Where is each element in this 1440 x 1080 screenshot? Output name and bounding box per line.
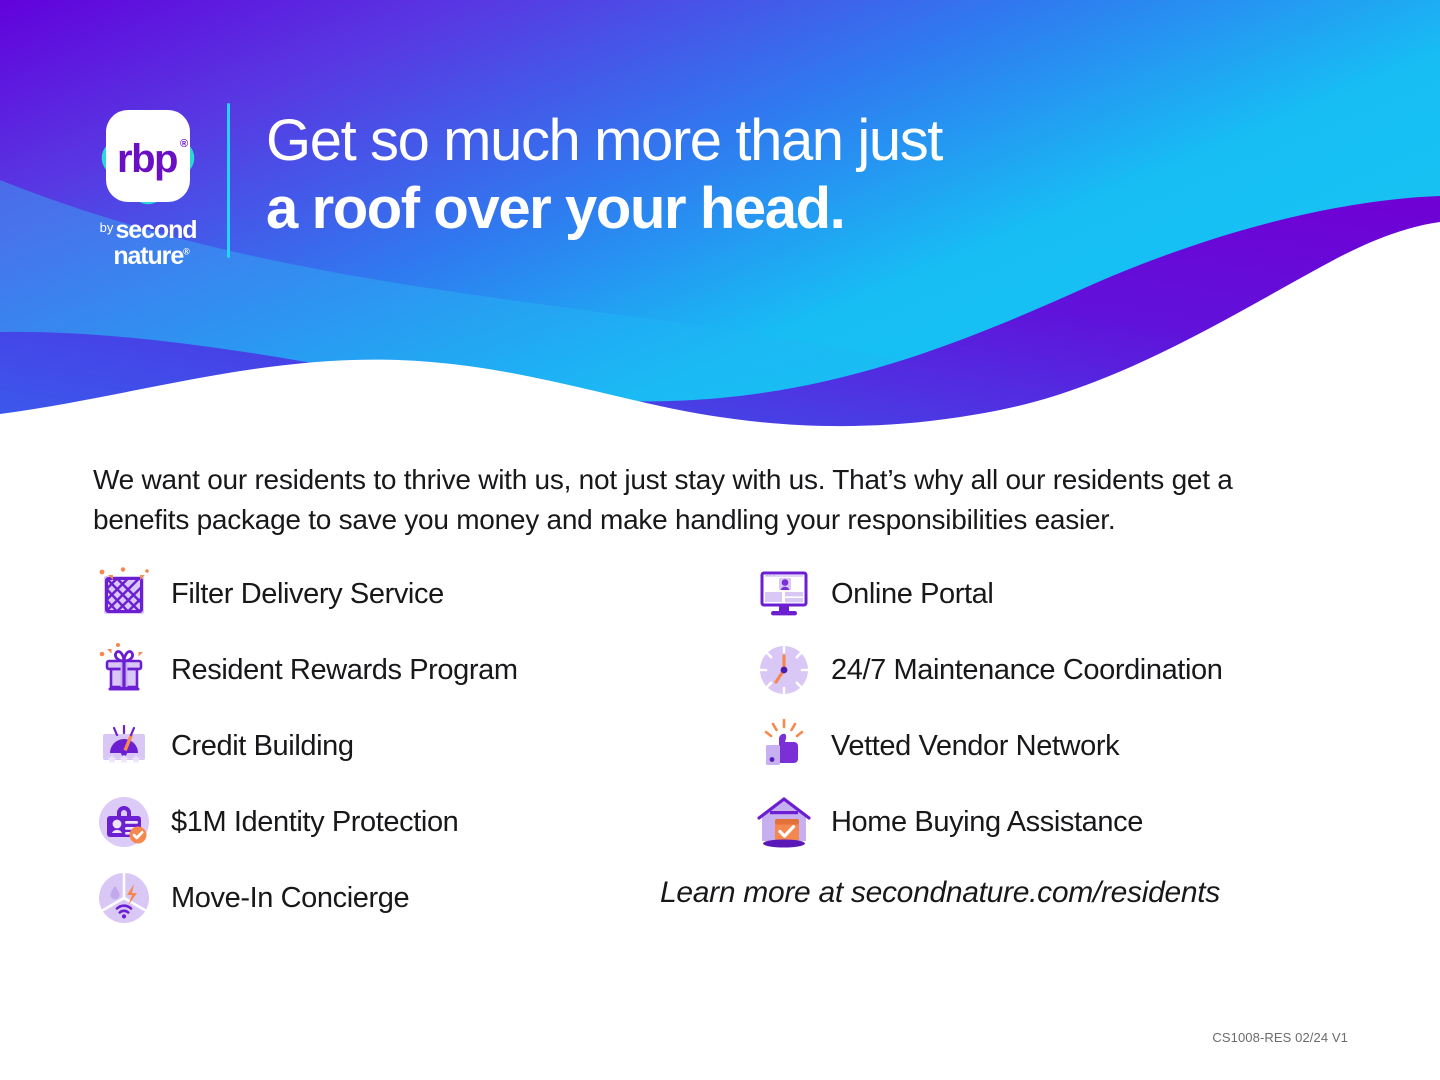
headline-line-2: a roof over your head. <box>266 176 942 242</box>
gift-box-icon <box>93 639 155 701</box>
benefit-item-maintenance-coordination: 24/7 Maintenance Coordination <box>753 632 1373 708</box>
logo-byline-trademark: ® <box>183 247 189 257</box>
credit-gauge-icon <box>93 715 155 777</box>
id-badge-shield-icon <box>93 791 155 853</box>
benefit-label: Online Portal <box>831 578 993 611</box>
clock-icon <box>753 639 815 701</box>
house-checklist-icon <box>753 791 815 853</box>
logo-byline-nature: nature® <box>88 244 208 269</box>
learn-more-link[interactable]: Learn more at secondnature.com/residents <box>660 876 1220 910</box>
document-code: CS1008-RES 02/24 V1 <box>1212 1030 1348 1045</box>
thumbs-up-icon <box>753 715 815 777</box>
benefit-item-home-buying-assistance: Home Buying Assistance <box>753 784 1373 860</box>
rbp-rosette-icon: rbp ® <box>90 100 206 216</box>
desktop-monitor-icon <box>753 563 815 625</box>
benefit-label: $1M Identity Protection <box>171 806 458 839</box>
benefit-label: Move-In Concierge <box>171 882 409 915</box>
logo-byline-second: second <box>116 218 197 243</box>
rbp-logo-mark: rbp ® <box>90 100 206 216</box>
benefit-item-resident-rewards-program: Resident Rewards Program <box>93 632 733 708</box>
header-banner: rbp ® bysecond nature® Get so much more … <box>0 0 1440 440</box>
benefit-item-move-in-concierge: Move-In Concierge <box>93 860 733 936</box>
benefit-item-identity-protection: $1M Identity Protection <box>93 784 733 860</box>
benefit-label: 24/7 Maintenance Coordination <box>831 654 1222 687</box>
logo-byline-by: by <box>100 221 114 234</box>
benefit-label: Filter Delivery Service <box>171 578 444 611</box>
benefit-label: Credit Building <box>171 730 354 763</box>
header-divider <box>227 103 230 258</box>
rbp-logo: rbp ® bysecond nature® <box>88 100 208 260</box>
page-title: Get so much more than just a roof over y… <box>266 108 942 242</box>
air-filter-icon <box>93 563 155 625</box>
benefit-label: Home Buying Assistance <box>831 806 1143 839</box>
benefit-item-credit-building: Credit Building <box>93 708 733 784</box>
benefit-item-online-portal: Online Portal <box>753 556 1373 632</box>
benefit-label: Vetted Vendor Network <box>831 730 1119 763</box>
intro-paragraph: We want our residents to thrive with us,… <box>93 460 1318 540</box>
benefit-item-vetted-vendor-network: Vetted Vendor Network <box>753 708 1373 784</box>
benefit-label: Resident Rewards Program <box>171 654 518 687</box>
benefits-column-right: Online Portal <box>753 556 1373 860</box>
headline-line-1: Get so much more than just <box>266 108 942 174</box>
logo-byline: bysecond nature® <box>88 218 208 269</box>
benefit-item-filter-delivery-service: Filter Delivery Service <box>93 556 733 632</box>
svg-text:®: ® <box>180 138 188 150</box>
svg-text:rbp: rbp <box>117 137 177 181</box>
utilities-wheel-icon <box>93 867 155 929</box>
benefits-column-left: Filter Delivery Service <box>93 556 733 936</box>
